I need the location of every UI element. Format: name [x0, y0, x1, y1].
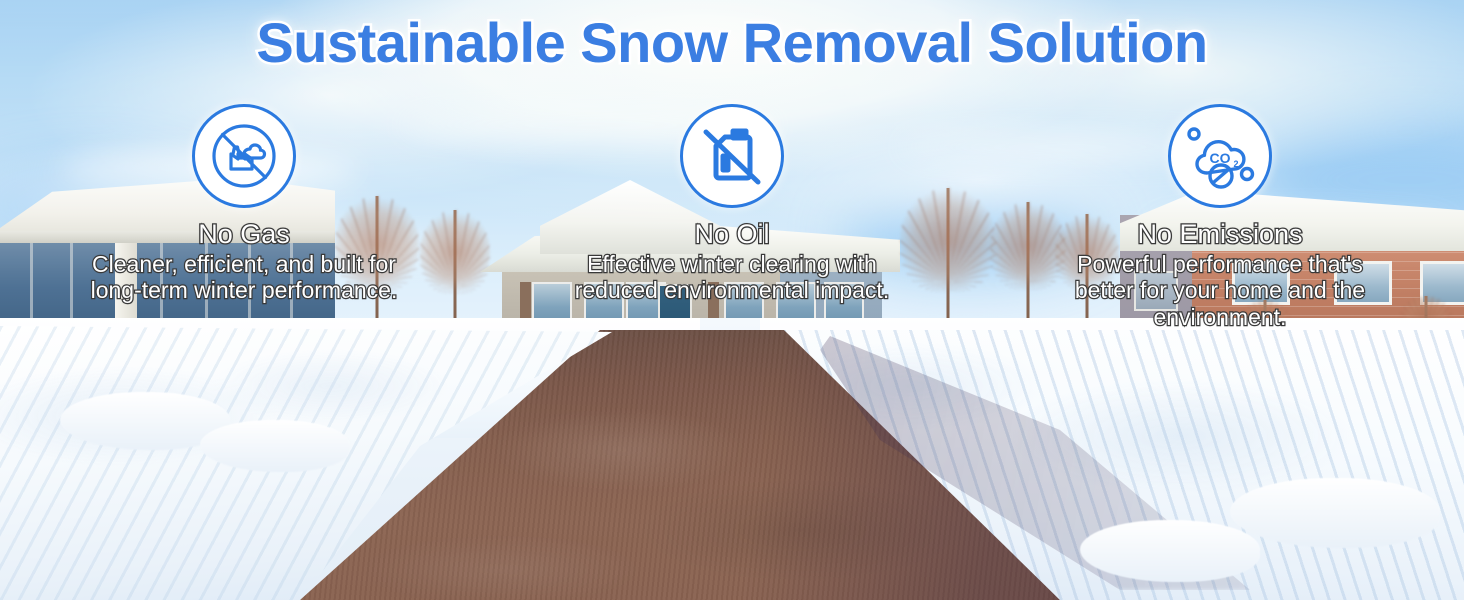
no-oil-icon-badge [680, 104, 784, 208]
feature-no-oil: No Oil Effective winter clearing with re… [488, 104, 976, 330]
feature-title: No Gas [198, 220, 290, 249]
no-emissions-co2-cloud-icon: CO 2 [1181, 120, 1259, 192]
feature-title: No Emissions [1137, 220, 1302, 249]
page-title: Sustainable Snow Removal Solution [0, 10, 1464, 75]
feature-no-emissions: CO 2 No Emissions Powerful performance t… [976, 104, 1464, 330]
feature-description: Powerful performance that's better for y… [1055, 251, 1385, 330]
no-emissions-icon-badge: CO 2 [1168, 104, 1272, 208]
feature-no-gas: No Gas Cleaner, efficient, and built for… [0, 104, 488, 330]
promo-banner: Sustainable Snow Removal Solution [0, 0, 1464, 600]
svg-text:2: 2 [1233, 159, 1238, 169]
feature-description: Cleaner, efficient, and built for long-t… [79, 251, 409, 303]
banner-content: Sustainable Snow Removal Solution [0, 0, 1464, 600]
no-gas-icon-badge [192, 104, 296, 208]
no-gas-factory-icon [206, 118, 282, 194]
feature-description: Effective winter clearing with reduced e… [567, 251, 897, 303]
feature-list: No Gas Cleaner, efficient, and built for… [0, 104, 1464, 330]
feature-title: No Oil [694, 220, 769, 249]
no-oil-can-icon [696, 120, 768, 192]
